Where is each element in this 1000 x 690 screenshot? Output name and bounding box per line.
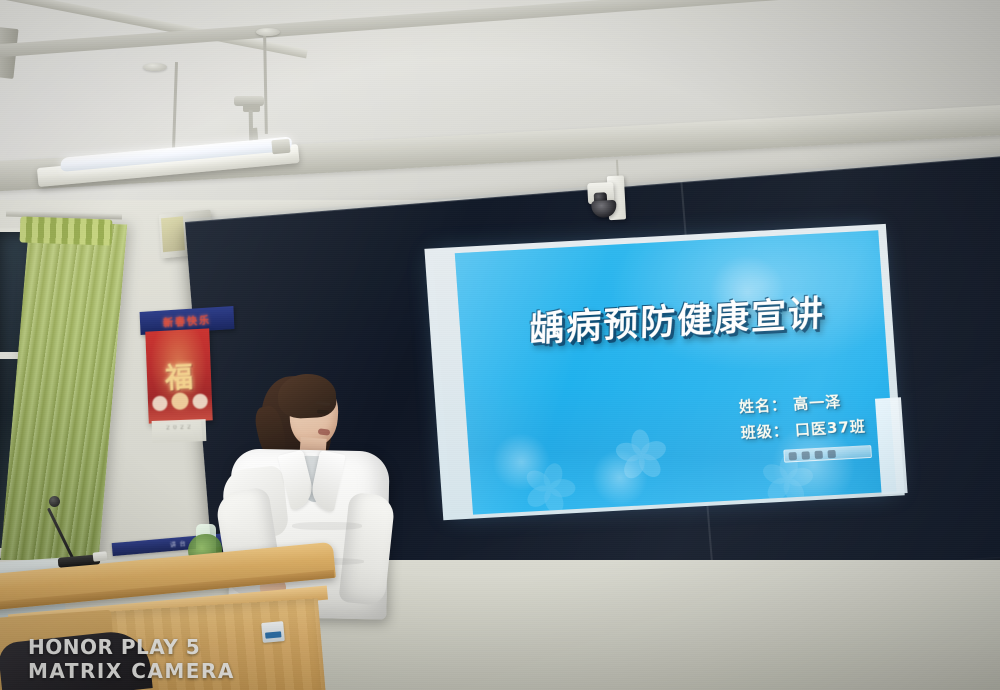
wall-box-face bbox=[161, 216, 185, 252]
light-canopy-right bbox=[256, 28, 280, 36]
light-canopy-left bbox=[143, 63, 167, 71]
ppt-next-icon[interactable] bbox=[814, 450, 823, 458]
slide-flower-1 bbox=[620, 428, 663, 480]
poster-figures bbox=[151, 387, 208, 414]
ppt-menu-icon[interactable] bbox=[827, 449, 836, 457]
ppt-prev-icon[interactable] bbox=[788, 452, 797, 460]
slide-presenter-info: 姓名： 高一泽 班级： 口医37班 bbox=[738, 387, 867, 446]
curtain-pleat-header bbox=[20, 216, 113, 245]
ppt-pen-icon[interactable] bbox=[801, 451, 810, 459]
presentation-slide: 龋病预防健康宣讲 姓名： 高一泽 班级： 口医37班 bbox=[455, 230, 897, 514]
watermark-line-1: HONOR PLAY 5 bbox=[28, 636, 235, 660]
coat-fold-1 bbox=[292, 522, 362, 530]
lamp-end-cap bbox=[271, 139, 290, 155]
microphone-clip bbox=[93, 551, 108, 561]
wall-sign-text: 新春快乐 bbox=[163, 312, 212, 330]
lectern-panel-screen bbox=[265, 631, 281, 638]
surveillance-camera bbox=[585, 175, 639, 224]
slide-flower-2 bbox=[528, 461, 571, 513]
microphone-head bbox=[49, 496, 60, 507]
slide-title: 龋病预防健康宣讲 bbox=[484, 295, 870, 351]
watermark-line-2: MATRIX CAMERA bbox=[28, 660, 235, 684]
presenter-mouth bbox=[318, 428, 331, 435]
poster-calendar-pad: 2 0 2 2 bbox=[152, 419, 207, 443]
lectern-control-panel[interactable] bbox=[261, 621, 285, 643]
poster-caption: 2 0 2 2 bbox=[152, 424, 206, 432]
camera-watermark: HONOR PLAY 5 MATRIX CAMERA bbox=[28, 636, 235, 683]
new-year-poster: 福 bbox=[145, 328, 212, 423]
podium-wall-sign-text: 讲 台 bbox=[170, 539, 187, 549]
photo-scene: 龋病预防健康宣讲 姓名： 高一泽 班级： 口医37班 bbox=[0, 0, 1000, 690]
projection-screen: 龋病预防健康宣讲 姓名： 高一泽 班级： 口医37班 bbox=[433, 230, 896, 513]
